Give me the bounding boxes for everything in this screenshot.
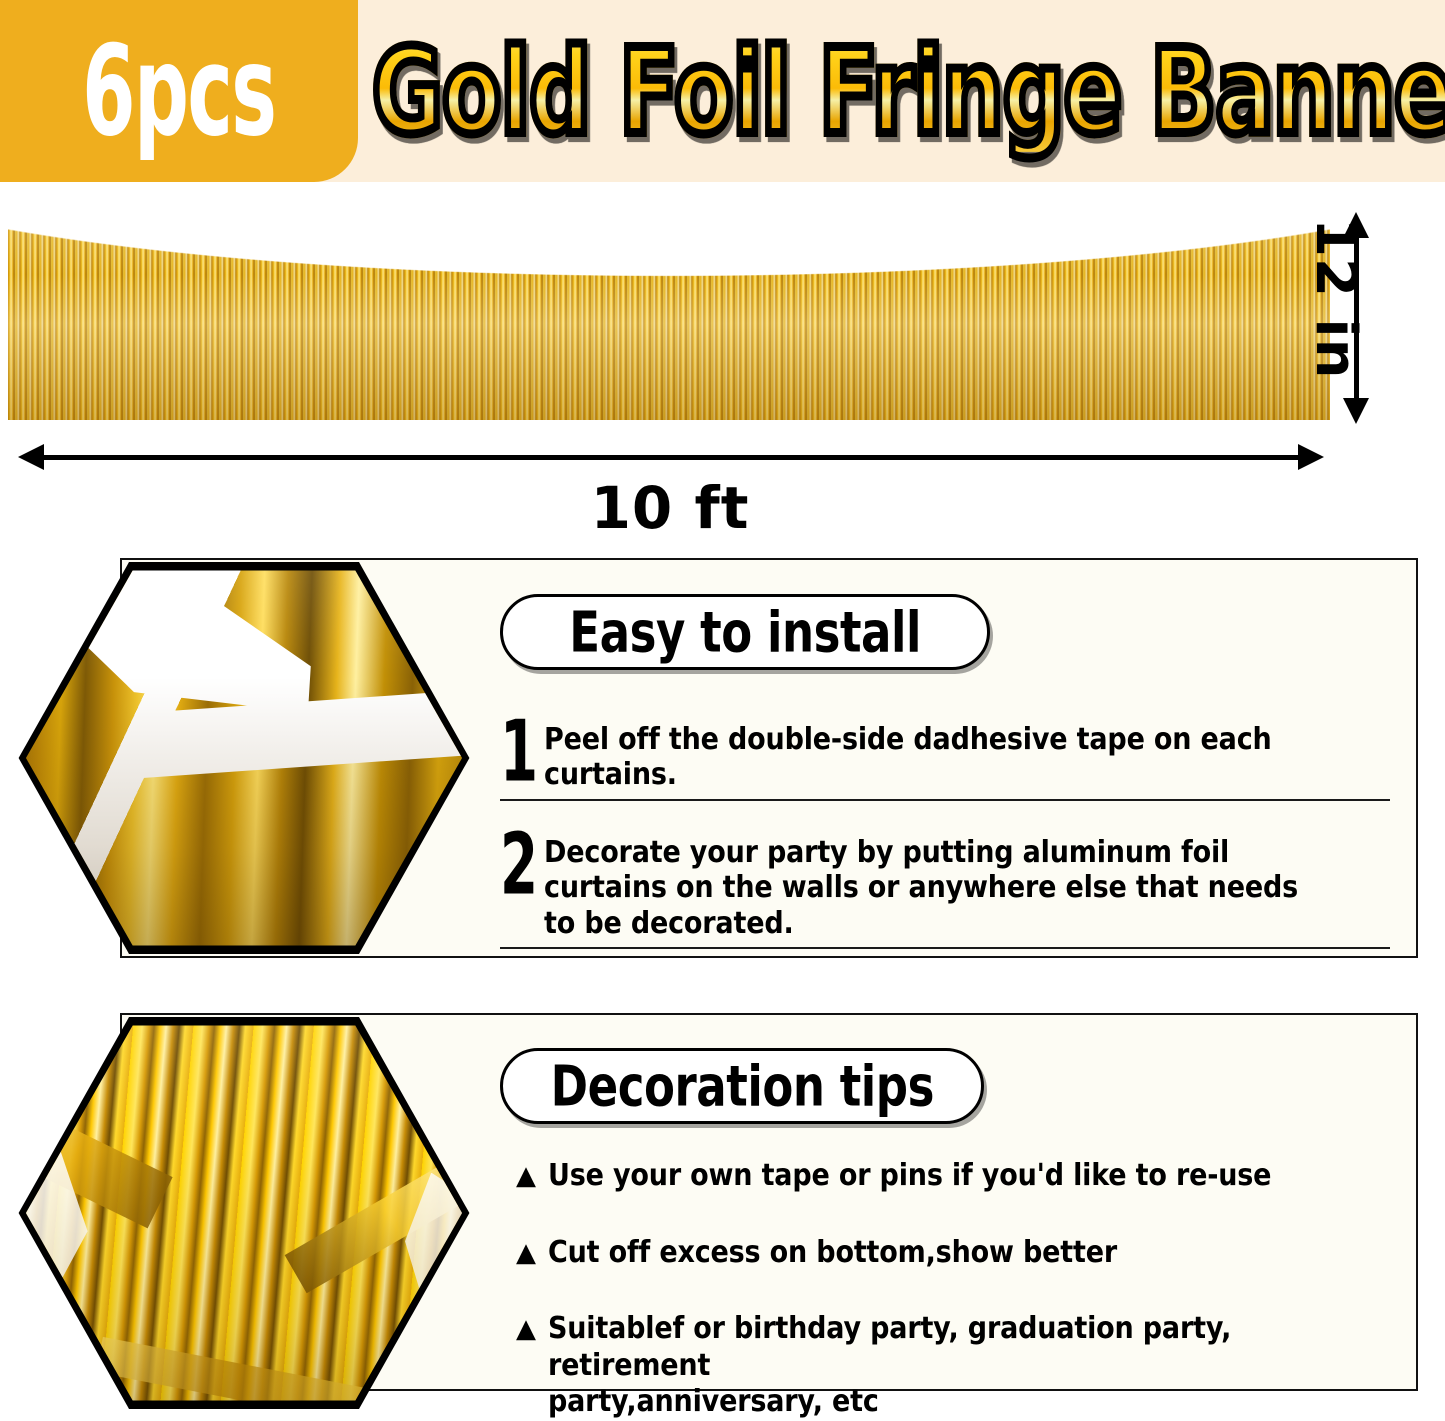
quantity-badge: 6pcs <box>0 0 358 182</box>
install-photo-hexagon <box>14 556 474 960</box>
triangle-bullet-icon: ▲ <box>516 1314 548 1345</box>
step-text: Decorate your party by putting aluminum … <box>544 835 1305 941</box>
tips-heading-pill: Decoration tips <box>500 1048 984 1124</box>
step-number: 1 <box>500 718 532 786</box>
fringe-garland-image <box>8 218 1330 420</box>
dimension-line <box>34 455 1308 460</box>
photo-shading <box>14 556 474 960</box>
tips-heading-label: Decoration tips <box>550 1053 933 1119</box>
photo-shading <box>14 1011 474 1415</box>
tip-item: ▲ Use your own tape or pins if you'd lik… <box>516 1158 1416 1195</box>
tips-photo-hexagon <box>14 1011 474 1415</box>
triangle-bullet-icon: ▲ <box>516 1161 548 1192</box>
hexagon-photo-clip <box>14 556 474 960</box>
hexagon-photo-clip <box>14 1011 474 1415</box>
step-text: Peel off the double-side dadhesive tape … <box>544 722 1305 793</box>
install-heading-label: Easy to install <box>569 599 921 665</box>
arrow-head-right-icon <box>1298 444 1324 470</box>
product-title-wrap: Gold Foil Fringe Banner <box>372 18 1432 168</box>
fringe-strands <box>8 218 1330 420</box>
height-dimension-label: 12 in <box>1303 218 1368 418</box>
width-dimension-arrow <box>18 450 1324 464</box>
product-title: Gold Foil Fringe Banner <box>372 34 1445 152</box>
adhesive-tape-photo <box>14 556 474 960</box>
tip-item: ▲ Cut off excess on bottom,show better <box>516 1235 1416 1272</box>
tip-text: Use your own tape or pins if you'd like … <box>548 1158 1329 1195</box>
decoration-tips-list: ▲ Use your own tape or pins if you'd lik… <box>516 1158 1416 1421</box>
step-number: 2 <box>500 831 532 899</box>
triangle-bullet-icon: ▲ <box>516 1238 548 1269</box>
width-dimension-label: 10 ft <box>0 474 1340 542</box>
product-dimension-figure: 12 in 10 ft <box>0 182 1445 537</box>
install-step: 1 Peel off the double-side dadhesive tap… <box>500 722 1390 801</box>
tip-text: Cut off excess on bottom,show better <box>548 1235 1329 1272</box>
header-banner: 6pcs Gold Foil Fringe Banner <box>0 0 1445 182</box>
gold-tinsel-photo <box>14 1011 474 1415</box>
install-steps-list: 1 Peel off the double-side dadhesive tap… <box>500 722 1390 949</box>
install-step: 2 Decorate your party by putting aluminu… <box>500 835 1390 949</box>
quantity-badge-label: 6pcs <box>82 29 275 154</box>
install-heading-pill: Easy to install <box>500 594 990 670</box>
